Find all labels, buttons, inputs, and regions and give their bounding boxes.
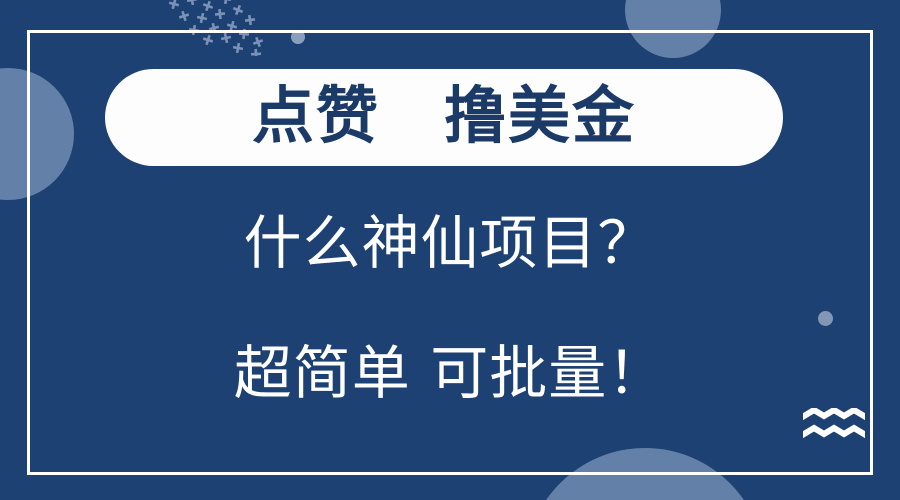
subtitle-line-2: 超简单 可批量！	[0, 344, 900, 402]
page-title: 点赞 撸美金	[252, 85, 636, 147]
headline-pill: 点赞 撸美金	[105, 69, 783, 166]
poster-canvas: 点赞 撸美金 什么神仙项目？ 超简单 可批量！	[0, 0, 900, 500]
subtitle-line-1: 什么神仙项目？	[0, 214, 900, 272]
poster-content: 点赞 撸美金 什么神仙项目？ 超简单 可批量！	[0, 0, 900, 500]
